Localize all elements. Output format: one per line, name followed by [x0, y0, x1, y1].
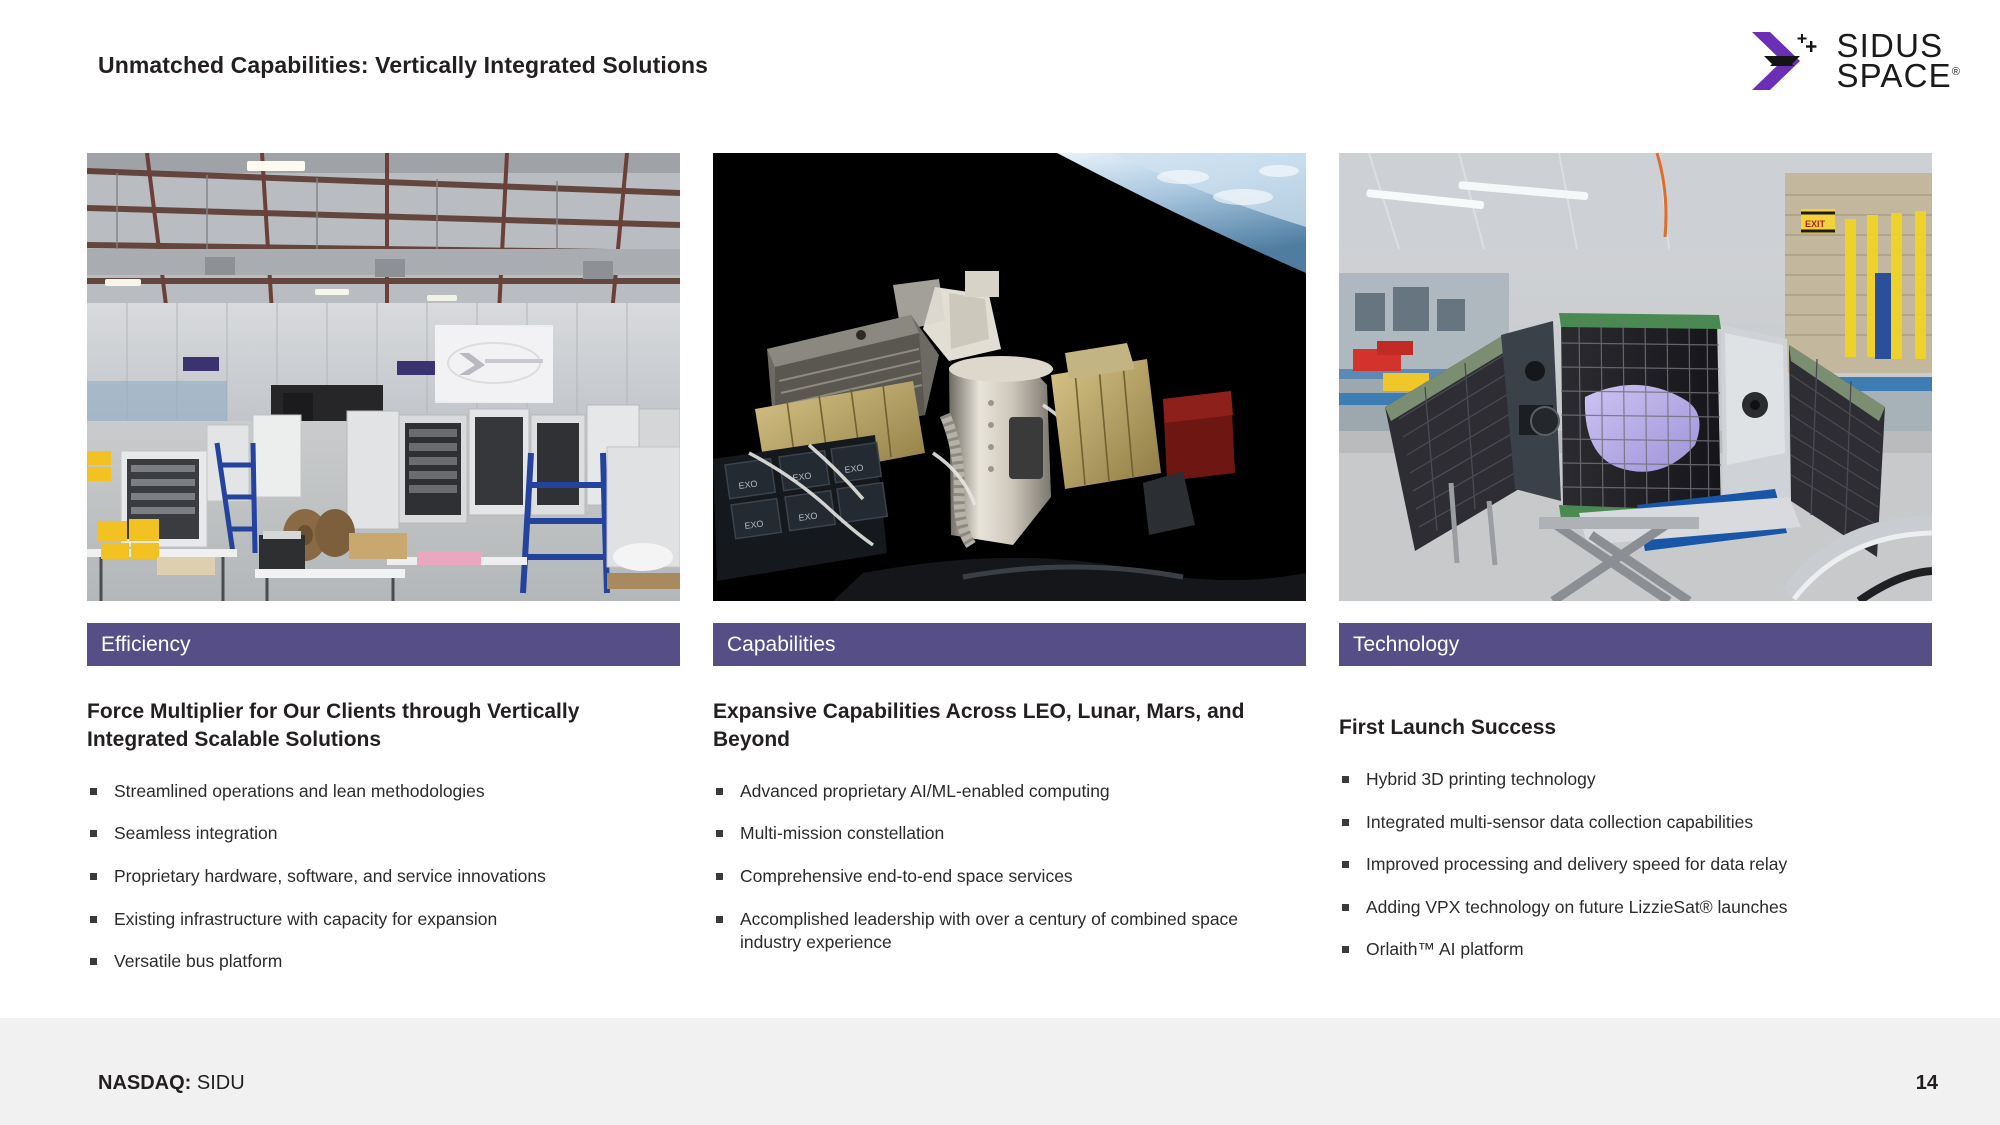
ticker-symbol: SIDU — [197, 1072, 245, 1094]
bullet-text: Comprehensive end-to-end space services — [740, 865, 1073, 889]
list-item: Orlaith™ AI platform — [1339, 938, 1932, 962]
list-item: Proprietary hardware, software, and serv… — [87, 865, 680, 889]
bullet-list-capabilities: Advanced proprietary AI/ML-enabled compu… — [713, 780, 1306, 955]
section-bar-efficiency: Efficiency — [87, 623, 680, 666]
list-item: Versatile bus platform — [87, 950, 680, 974]
list-item: Improved processing and delivery speed f… — [1339, 853, 1932, 877]
registered-mark: ® — [1952, 66, 1960, 78]
bullet-text: Streamlined operations and lean methodol… — [114, 780, 485, 804]
page-title: Unmatched Capabilities: Vertically Integ… — [98, 52, 708, 79]
bullet-text: Adding VPX technology on future LizzieSa… — [1366, 896, 1788, 920]
column-capabilities: EXO EXO EXO EXO EXO — [713, 153, 1306, 993]
footer-band — [0, 1018, 2000, 1125]
square-bullet-icon — [716, 916, 723, 923]
bullet-text: Existing infrastructure with capacity fo… — [114, 908, 497, 932]
logo-space-text: SPACE — [1836, 57, 1951, 94]
square-bullet-icon — [1342, 819, 1349, 826]
column-efficiency: Efficiency Force Multiplier for Our Clie… — [87, 153, 680, 993]
square-bullet-icon — [90, 788, 97, 795]
list-item: Adding VPX technology on future LizzieSa… — [1339, 896, 1932, 920]
list-item: Advanced proprietary AI/ML-enabled compu… — [713, 780, 1306, 804]
square-bullet-icon — [1342, 776, 1349, 783]
ticker-label: NASDAQ: — [98, 1072, 191, 1094]
square-bullet-icon — [90, 958, 97, 965]
bullet-text: Multi-mission constellation — [740, 822, 944, 846]
square-bullet-icon — [1342, 946, 1349, 953]
list-item: Streamlined operations and lean methodol… — [87, 780, 680, 804]
logo-line-space: SPACE® — [1836, 61, 1960, 91]
list-item: Existing infrastructure with capacity fo… — [87, 908, 680, 932]
bullet-text: Integrated multi-sensor data collection … — [1366, 811, 1753, 835]
sidus-space-logo: SIDUS SPACE® — [1750, 28, 1960, 94]
satellite-in-orbit-photo: EXO EXO EXO EXO EXO — [713, 153, 1306, 601]
bullet-text: Proprietary hardware, software, and serv… — [114, 865, 546, 889]
list-item: Hybrid 3D printing technology — [1339, 768, 1932, 792]
list-item: Multi-mission constellation — [713, 822, 1306, 846]
square-bullet-icon — [90, 830, 97, 837]
square-bullet-icon — [716, 873, 723, 880]
svg-text:EXIT: EXIT — [1805, 219, 1826, 229]
sidus-chevron-icon — [1750, 28, 1822, 94]
nasdaq-ticker: NASDAQ: SIDU — [98, 1072, 245, 1095]
section-bar-label: Capabilities — [727, 633, 836, 657]
list-item: Comprehensive end-to-end space services — [713, 865, 1306, 889]
section-bar-label: Efficiency — [101, 633, 191, 657]
bullet-text: Accomplished leadership with over a cent… — [740, 908, 1240, 955]
bullet-text: Seamless integration — [114, 822, 277, 846]
square-bullet-icon — [716, 830, 723, 837]
list-item: Seamless integration — [87, 822, 680, 846]
content-columns: Efficiency Force Multiplier for Our Clie… — [0, 153, 2000, 993]
list-item: Integrated multi-sensor data collection … — [1339, 811, 1932, 835]
factory-floor-photo — [87, 153, 680, 601]
page-number: 14 — [1916, 1072, 1938, 1095]
square-bullet-icon — [90, 916, 97, 923]
lizziesat-cleanroom-photo: EXIT — [1339, 153, 1932, 601]
bullet-text: Versatile bus platform — [114, 950, 282, 974]
square-bullet-icon — [1342, 904, 1349, 911]
bullet-text: Advanced proprietary AI/ML-enabled compu… — [740, 780, 1110, 804]
square-bullet-icon — [716, 788, 723, 795]
bullet-list-efficiency: Streamlined operations and lean methodol… — [87, 780, 680, 974]
section-bar-label: Technology — [1353, 633, 1459, 657]
bullet-text: Improved processing and delivery speed f… — [1366, 853, 1787, 877]
facility-banner — [435, 325, 553, 403]
column-subtitle-capabilities: Expansive Capabilities Across LEO, Lunar… — [713, 698, 1258, 754]
slide-header: Unmatched Capabilities: Vertically Integ… — [0, 0, 2000, 120]
column-subtitle-efficiency: Force Multiplier for Our Clients through… — [87, 698, 632, 754]
square-bullet-icon — [90, 873, 97, 880]
bullet-list-technology: Hybrid 3D printing technology Integrated… — [1339, 768, 1932, 962]
bullet-text: Orlaith™ AI platform — [1366, 938, 1524, 962]
logo-wordmark: SIDUS SPACE® — [1836, 31, 1960, 92]
section-bar-technology: Technology — [1339, 623, 1932, 666]
column-technology: EXIT — [1339, 153, 1932, 993]
square-bullet-icon — [1342, 861, 1349, 868]
column-subtitle-technology: First Launch Success — [1339, 714, 1884, 742]
bullet-text: Hybrid 3D printing technology — [1366, 768, 1596, 792]
list-item: Accomplished leadership with over a cent… — [713, 908, 1306, 955]
section-bar-capabilities: Capabilities — [713, 623, 1306, 666]
